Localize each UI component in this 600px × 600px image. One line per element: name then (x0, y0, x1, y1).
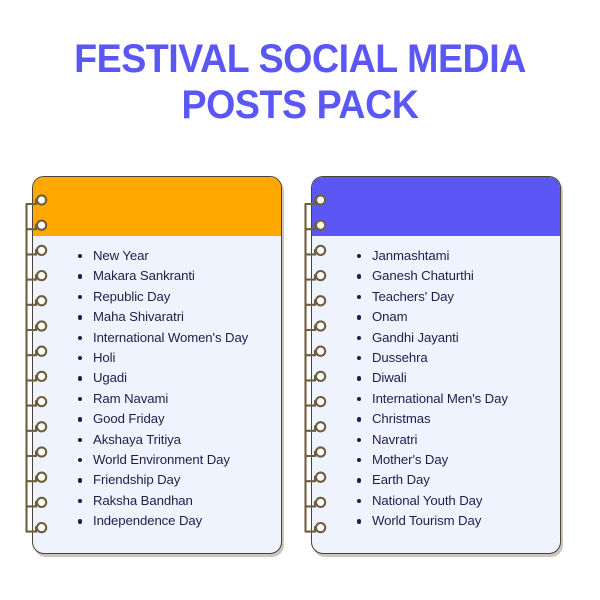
list-item: Earth Day (312, 470, 550, 490)
bullet-icon (357, 397, 361, 401)
list-item-label: International Women's Day (93, 330, 248, 345)
list-item-label: Makara Sankranti (93, 268, 195, 283)
list-item-label: Ugadi (93, 370, 127, 385)
right-notebook-card: JanmashtamiGanesh ChaturthiTeachers' Day… (311, 176, 563, 558)
list-item-label: Diwali (372, 370, 407, 385)
notebook-cards: New YearMakara SankrantiRepublic DayMaha… (0, 176, 600, 566)
bullet-icon (78, 315, 82, 319)
list-item-label: Teachers' Day (372, 289, 454, 304)
list-item-label: Mother's Day (372, 452, 448, 467)
right-card-body: JanmashtamiGanesh ChaturthiTeachers' Day… (312, 236, 560, 542)
left-festival-list: New YearMakara SankrantiRepublic DayMaha… (33, 246, 271, 532)
bullet-icon (357, 376, 361, 380)
list-item: Gandhi Jayanti (312, 328, 550, 348)
list-item: Ganesh Chaturthi (312, 266, 550, 286)
list-item: Friendship Day (33, 470, 271, 490)
bullet-icon (78, 458, 82, 462)
bullet-icon (78, 274, 82, 278)
list-item-label: Independence Day (93, 513, 202, 528)
bullet-icon (357, 417, 361, 421)
bullet-icon (357, 254, 361, 258)
bullet-icon (357, 336, 361, 340)
list-item: Onam (312, 307, 550, 327)
list-item-label: World Environment Day (93, 452, 230, 467)
list-item-label: Republic Day (93, 289, 170, 304)
page-title-line-2: POSTS PACK (18, 82, 582, 128)
list-item: Republic Day (33, 287, 271, 307)
bullet-icon (78, 397, 82, 401)
list-item-label: Onam (372, 309, 408, 324)
list-item-label: Good Friday (93, 411, 164, 426)
bullet-icon (78, 499, 82, 503)
list-item-label: Dussehra (372, 350, 428, 365)
bullet-icon (357, 438, 361, 442)
list-item: Teachers' Day (312, 287, 550, 307)
bullet-icon (78, 478, 82, 482)
bullet-icon (357, 295, 361, 299)
list-item-label: Christmas (372, 411, 430, 426)
list-item-label: Earth Day (372, 472, 430, 487)
list-item: Dussehra (312, 348, 550, 368)
left-card-surface: New YearMakara SankrantiRepublic DayMaha… (32, 176, 282, 554)
list-item-label: Holi (93, 350, 115, 365)
right-card-header-band (312, 177, 560, 236)
list-item: Janmashtami (312, 246, 550, 266)
list-item-label: Janmashtami (372, 248, 449, 263)
list-item: International Women's Day (33, 328, 271, 348)
list-item-label: Ram Navami (93, 391, 168, 406)
page-title-line-1: FESTIVAL SOCIAL MEDIA (18, 36, 582, 82)
list-item: Raksha Bandhan (33, 491, 271, 511)
list-item-label: International Men's Day (372, 391, 508, 406)
list-item: Maha Shivaratri (33, 307, 271, 327)
bullet-icon (78, 417, 82, 421)
list-item: Makara Sankranti (33, 266, 271, 286)
right-card-surface: JanmashtamiGanesh ChaturthiTeachers' Day… (311, 176, 561, 554)
bullet-icon (78, 336, 82, 340)
list-item-label: World Tourism Day (372, 513, 481, 528)
list-item: Good Friday (33, 409, 271, 429)
list-item-label: National Youth Day (372, 493, 482, 508)
list-item: Akshaya Tritiya (33, 430, 271, 450)
list-item-label: Navratri (372, 432, 417, 447)
list-item: New Year (33, 246, 271, 266)
page-title: FESTIVAL SOCIAL MEDIA POSTS PACK (0, 36, 600, 128)
list-item: World Tourism Day (312, 511, 550, 531)
list-item: Christmas (312, 409, 550, 429)
bullet-icon (357, 315, 361, 319)
list-item-label: Akshaya Tritiya (93, 432, 181, 447)
list-item: Holi (33, 348, 271, 368)
bullet-icon (357, 274, 361, 278)
list-item: Navratri (312, 430, 550, 450)
bullet-icon (357, 478, 361, 482)
left-notebook-card: New YearMakara SankrantiRepublic DayMaha… (32, 176, 284, 558)
bullet-icon (78, 376, 82, 380)
bullet-icon (357, 356, 361, 360)
list-item-label: Raksha Bandhan (93, 493, 193, 508)
bullet-icon (357, 458, 361, 462)
bullet-icon (78, 295, 82, 299)
bullet-icon (78, 438, 82, 442)
list-item: World Environment Day (33, 450, 271, 470)
bullet-icon (357, 499, 361, 503)
list-item-label: Ganesh Chaturthi (372, 268, 474, 283)
right-festival-list: JanmashtamiGanesh ChaturthiTeachers' Day… (312, 246, 550, 532)
left-card-body: New YearMakara SankrantiRepublic DayMaha… (33, 236, 281, 542)
list-item-label: Gandhi Jayanti (372, 330, 459, 345)
list-item: National Youth Day (312, 491, 550, 511)
left-card-header-band (33, 177, 281, 236)
bullet-icon (78, 356, 82, 360)
list-item: Ram Navami (33, 389, 271, 409)
bullet-icon (357, 519, 361, 523)
list-item: Diwali (312, 368, 550, 388)
bullet-icon (78, 254, 82, 258)
bullet-icon (78, 519, 82, 523)
list-item: Independence Day (33, 511, 271, 531)
list-item: Mother's Day (312, 450, 550, 470)
list-item-label: Maha Shivaratri (93, 309, 184, 324)
list-item-label: New Year (93, 248, 149, 263)
list-item: Ugadi (33, 368, 271, 388)
list-item: International Men's Day (312, 389, 550, 409)
list-item-label: Friendship Day (93, 472, 180, 487)
